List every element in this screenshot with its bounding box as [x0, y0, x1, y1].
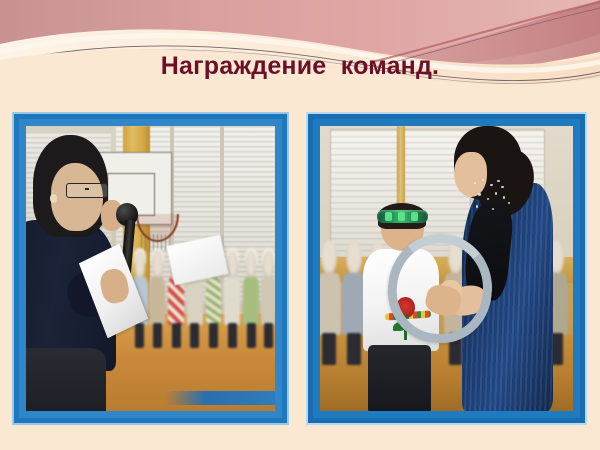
list-item	[148, 251, 167, 348]
photo-left-image	[26, 126, 275, 411]
page-title: Награждение команд.	[0, 52, 600, 81]
list-item	[259, 251, 275, 348]
photo-right-frame-inner	[308, 114, 585, 423]
sequin-detail	[469, 177, 515, 217]
glasses-icon	[66, 183, 108, 198]
list-item	[242, 251, 261, 348]
speaker-skirt	[26, 348, 106, 411]
speaker-earring-icon	[50, 194, 57, 203]
photo-left-frame-inner	[14, 114, 287, 423]
photo-left[interactable]	[12, 112, 289, 425]
presentation-slide: Награждение команд.	[0, 0, 600, 450]
green-headband-icon	[377, 210, 428, 223]
photo-right-image	[320, 126, 573, 411]
photo-right[interactable]	[306, 112, 587, 425]
recipient-pants	[368, 345, 431, 411]
